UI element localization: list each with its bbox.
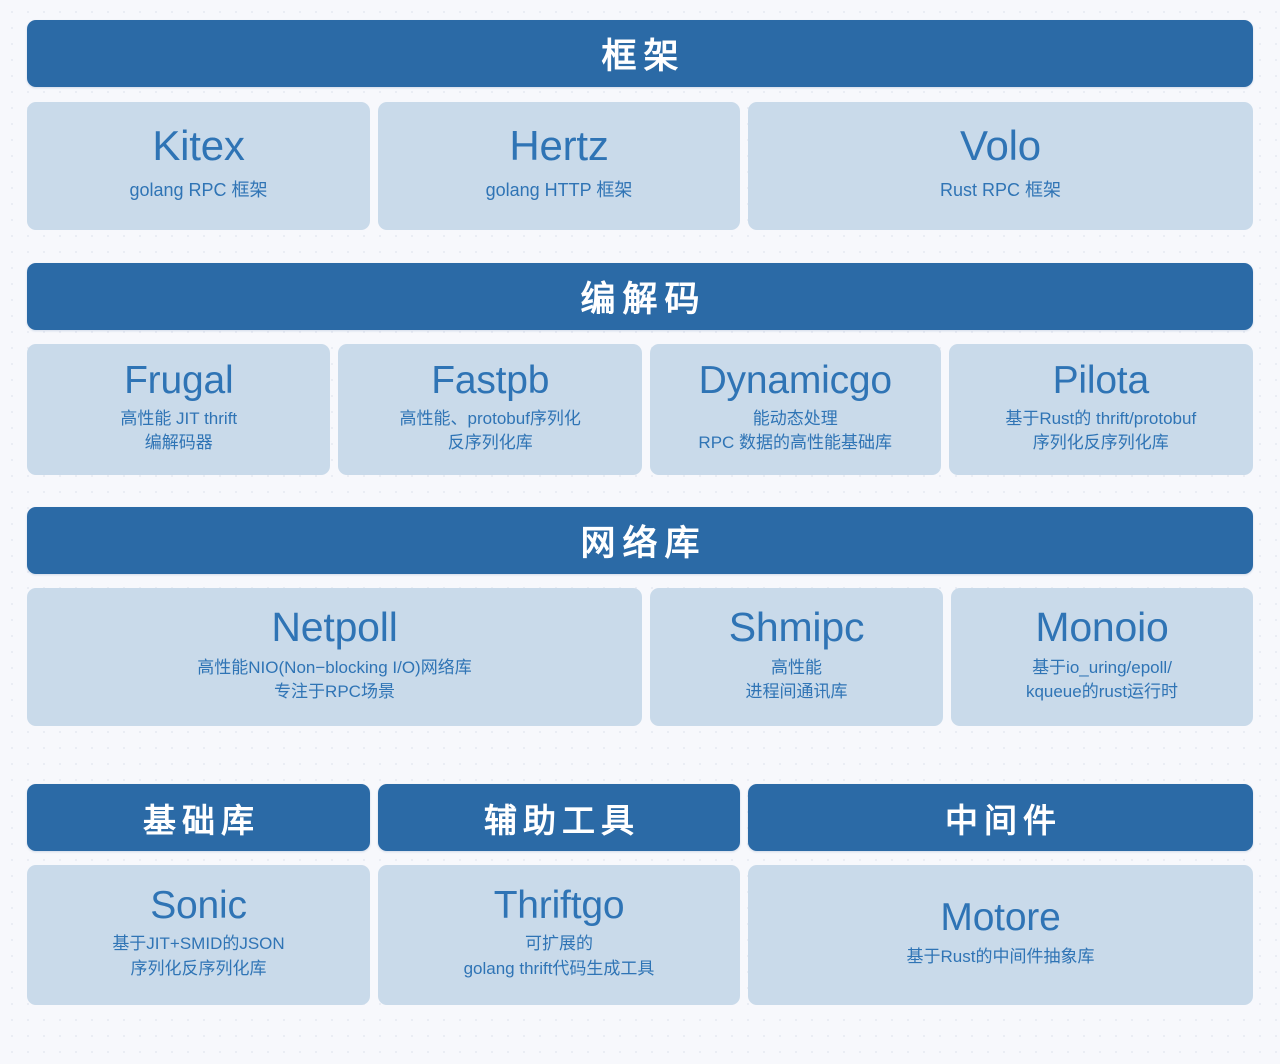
section-banner-frameworks: 框架 bbox=[27, 20, 1253, 87]
card-row-bottom: Sonic 基于JIT+SMID的JSON 序列化反序列化库 Thriftgo … bbox=[27, 865, 1253, 1005]
card-row-network: Netpoll 高性能NIO(Non−blocking I/O)网络库 专注于R… bbox=[27, 588, 1253, 726]
card-frugal[interactable]: Frugal 高性能 JIT thrift 编解码器 bbox=[27, 344, 330, 475]
card-monoio[interactable]: Monoio 基于io_uring/epoll/ kqueue的rust运行时 bbox=[951, 588, 1253, 726]
card-description: 高性能、protobuf序列化 反序列化库 bbox=[400, 407, 581, 455]
section-banner-tools: 辅助工具 bbox=[378, 784, 740, 851]
section-banner-base-library: 基础库 bbox=[27, 784, 370, 851]
card-fastpb[interactable]: Fastpb 高性能、protobuf序列化 反序列化库 bbox=[338, 344, 641, 475]
card-shmipc[interactable]: Shmipc 高性能 进程间通讯库 bbox=[650, 588, 943, 726]
card-description: 基于io_uring/epoll/ kqueue的rust运行时 bbox=[1026, 656, 1178, 704]
card-description: 基于Rust的 thrift/protobuf 序列化反序列化库 bbox=[1005, 407, 1196, 455]
card-title: Shmipc bbox=[729, 604, 865, 652]
card-title: Dynamicgo bbox=[699, 358, 892, 403]
section-banner-middleware: 中间件 bbox=[748, 784, 1253, 851]
card-description: 能动态处理 RPC 数据的高性能基础库 bbox=[698, 407, 892, 455]
card-title: Motore bbox=[940, 895, 1060, 940]
card-sonic[interactable]: Sonic 基于JIT+SMID的JSON 序列化反序列化库 bbox=[27, 865, 370, 1005]
card-thriftgo[interactable]: Thriftgo 可扩展的 golang thrift代码生成工具 bbox=[378, 865, 740, 1005]
card-title: Monoio bbox=[1035, 604, 1168, 652]
card-description: 基于JIT+SMID的JSON 序列化反序列化库 bbox=[112, 932, 284, 980]
card-title: Frugal bbox=[124, 358, 233, 403]
card-kitex[interactable]: Kitex golang RPC 框架 bbox=[27, 102, 370, 230]
card-title: Netpoll bbox=[271, 604, 397, 652]
card-description: 高性能 进程间通讯库 bbox=[746, 656, 848, 704]
card-title: Thriftgo bbox=[494, 883, 625, 928]
card-description: 高性能NIO(Non−blocking I/O)网络库 专注于RPC场景 bbox=[197, 656, 471, 704]
card-motore[interactable]: Motore 基于Rust的中间件抽象库 bbox=[748, 865, 1253, 1005]
banner-row-bottom: 基础库 辅助工具 中间件 bbox=[27, 784, 1253, 851]
section-banner-network: 网络库 bbox=[27, 507, 1253, 574]
card-description: 基于Rust的中间件抽象库 bbox=[907, 945, 1095, 969]
card-description: Rust RPC 框架 bbox=[940, 178, 1061, 204]
card-title: Kitex bbox=[152, 122, 244, 171]
card-hertz[interactable]: Hertz golang HTTP 框架 bbox=[378, 102, 740, 230]
card-description: golang HTTP 框架 bbox=[486, 178, 633, 204]
card-row-frameworks: Kitex golang RPC 框架 Hertz golang HTTP 框架… bbox=[27, 102, 1253, 230]
card-description: 可扩展的 golang thrift代码生成工具 bbox=[464, 932, 655, 980]
card-title: Hertz bbox=[509, 122, 608, 171]
card-description: golang RPC 框架 bbox=[129, 178, 267, 204]
section-bottom: 基础库 辅助工具 中间件 Sonic 基于JIT+SMID的JSON 序列化反序… bbox=[27, 784, 1253, 1005]
card-title: Pilota bbox=[1053, 358, 1149, 403]
section-banner-codec: 编解码 bbox=[27, 263, 1253, 330]
card-title: Sonic bbox=[150, 883, 247, 928]
card-pilota[interactable]: Pilota 基于Rust的 thrift/protobuf 序列化反序列化库 bbox=[949, 344, 1253, 475]
tech-stack-diagram: 框架 Kitex golang RPC 框架 Hertz golang HTTP… bbox=[27, 0, 1253, 1005]
card-row-codec: Frugal 高性能 JIT thrift 编解码器 Fastpb 高性能、pr… bbox=[27, 344, 1253, 475]
card-volo[interactable]: Volo Rust RPC 框架 bbox=[748, 102, 1253, 230]
card-description: 高性能 JIT thrift 编解码器 bbox=[120, 407, 237, 455]
card-title: Fastpb bbox=[431, 358, 549, 403]
card-dynamicgo[interactable]: Dynamicgo 能动态处理 RPC 数据的高性能基础库 bbox=[650, 344, 941, 475]
card-netpoll[interactable]: Netpoll 高性能NIO(Non−blocking I/O)网络库 专注于R… bbox=[27, 588, 642, 726]
card-title: Volo bbox=[960, 122, 1041, 171]
